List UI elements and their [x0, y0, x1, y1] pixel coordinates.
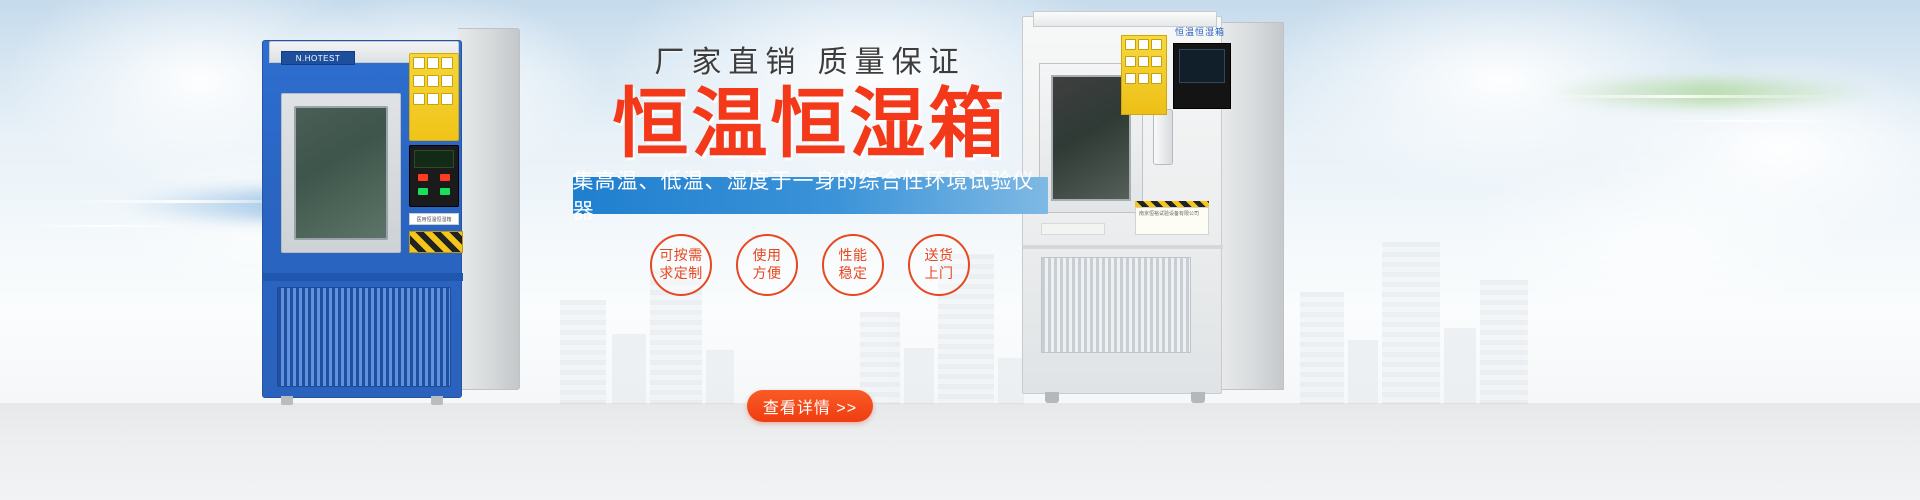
feature-badge-list: 可按需 求定制 使用 方便 性能 稳定 送货 上门: [570, 234, 1050, 296]
banner-eyebrow: 厂家直销 质量保证: [560, 46, 1060, 79]
ground-strip: [0, 404, 1920, 500]
feature-badge-line2: 求定制: [659, 265, 703, 283]
left-chamber-side-panel: [458, 28, 520, 390]
view-details-button[interactable]: 查看详情 >>: [747, 390, 873, 422]
feature-badge-line1: 性能: [839, 247, 868, 265]
promo-banner: N.HOTEST 医用恒温恒湿箱: [0, 0, 1920, 500]
right-chamber-vent-grille: [1041, 257, 1191, 353]
left-chamber-body: N.HOTEST 医用恒温恒湿箱: [262, 40, 462, 398]
left-chamber-warning-label: [409, 53, 459, 141]
banner-subtitle-bar: 集高温、低温、湿度于一身的综合性环境试验仪器: [573, 177, 1048, 214]
right-chamber-door-handle: [1153, 109, 1173, 165]
left-chamber-front-label: 医用恒温恒湿箱: [409, 213, 459, 225]
feature-badge[interactable]: 性能 稳定: [822, 234, 884, 296]
right-chamber-control-panel: [1173, 43, 1231, 109]
light-streak-decoration: [20, 225, 200, 227]
right-chamber-view-window: [1051, 75, 1131, 201]
feature-badge-line2: 上门: [925, 265, 954, 283]
feature-badge-line2: 稳定: [839, 265, 868, 283]
left-chamber-hazard-sticker: [409, 231, 463, 253]
banner-headline: 恒温恒湿箱: [560, 85, 1060, 165]
product-image-left-chamber: N.HOTEST 医用恒温恒湿箱: [262, 28, 520, 400]
left-chamber-brand-plate: N.HOTEST: [281, 51, 355, 65]
feature-badge-line1: 送货: [925, 247, 954, 265]
banner-text-block: 厂家直销 质量保证 恒温恒湿箱 集高温、低温、湿度于一身的综合性环境试验仪器 可…: [560, 46, 1060, 296]
cloud-decoration: [1400, 120, 1920, 350]
light-streak-decoration: [1650, 120, 1860, 122]
right-chamber-display: [1179, 49, 1225, 83]
right-chamber-info-plate: 南京恒裕试验设备有限公司: [1135, 207, 1209, 235]
right-chamber-warning-label: [1121, 35, 1167, 115]
left-chamber-view-window: [294, 106, 388, 240]
feature-badge-line1: 使用: [753, 247, 782, 265]
green-wisp-decoration: [1540, 80, 1880, 106]
cloud-decoration: [1520, 20, 1920, 280]
left-chamber-display: [414, 150, 454, 168]
feature-badge[interactable]: 送货 上门: [908, 234, 970, 296]
light-streak-decoration: [1540, 95, 1840, 98]
product-image-right-chamber: 恒温恒湿箱 南京恒裕试验设备有限公司: [1022, 10, 1284, 400]
feature-badge-line1: 可按需: [659, 247, 703, 265]
left-chamber-vent-grille: [277, 287, 451, 387]
left-chamber-control-panel: [409, 145, 459, 207]
feature-badge[interactable]: 可按需 求定制: [650, 234, 712, 296]
right-chamber-product-name: 恒温恒湿箱: [1175, 25, 1241, 39]
left-chamber-divider: [263, 273, 463, 281]
feature-badge[interactable]: 使用 方便: [736, 234, 798, 296]
left-chamber-door: [281, 93, 401, 253]
feature-badge-line2: 方便: [753, 265, 782, 283]
